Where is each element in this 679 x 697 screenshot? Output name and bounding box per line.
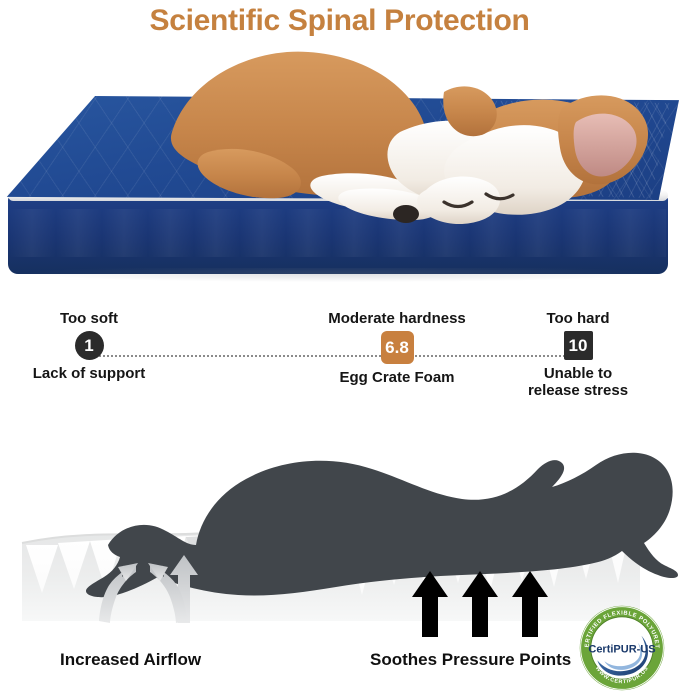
firmness-scale: Too soft 1 Lack of support Moderate hard… — [0, 300, 679, 420]
scale-stop-too-soft: Too soft 1 Lack of support — [24, 310, 154, 382]
scale-marker-6-8: 6.8 — [381, 331, 414, 364]
scale-stop-top-label: Too hard — [508, 310, 648, 327]
scale-stop-bottom-label-line2: release stress — [508, 382, 648, 399]
page-title: Scientific Spinal Protection — [0, 0, 679, 44]
sleeping-dog-illustration — [0, 44, 679, 290]
scale-stop-bottom-label: Unable to release stress — [508, 365, 648, 399]
scale-stop-bottom-label: Egg Crate Foam — [312, 369, 482, 386]
certipur-us-badge: CONTAINS CERTIFIED FLEXIBLE POLYURETHANE… — [578, 604, 666, 692]
product-photo — [0, 44, 679, 290]
scale-stop-bottom-label-line1: Unable to — [508, 365, 648, 382]
scale-stop-top-label: Too soft — [24, 310, 154, 327]
scale-marker-1: 1 — [75, 331, 104, 360]
airflow-label: Increased Airflow — [60, 650, 201, 670]
pressure-points-label: Soothes Pressure Points — [370, 650, 571, 670]
scale-stop-too-hard: Too hard 10 Unable to release stress — [508, 310, 648, 399]
scale-stop-top-label: Moderate hardness — [312, 310, 482, 327]
scale-stop-moderate: Moderate hardness 6.8 Egg Crate Foam — [312, 310, 482, 386]
scale-marker-10: 10 — [564, 331, 593, 360]
pressure-arrows — [412, 571, 548, 637]
scale-stop-bottom-label: Lack of support — [24, 365, 154, 382]
badge-wordmark: CertiPUR-US — [588, 643, 655, 655]
